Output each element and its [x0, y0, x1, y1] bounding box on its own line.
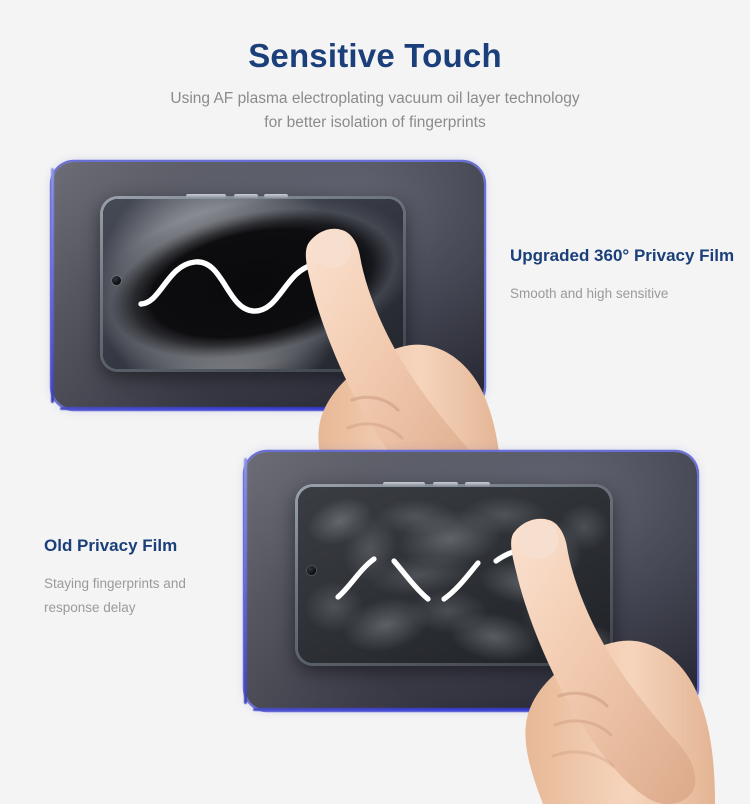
camera-punch-hole-icon — [307, 566, 316, 575]
caption-body-old: Staying fingerprints and response delay — [44, 556, 244, 620]
page-subtitle-line-1: Using AF plasma electroplating vacuum oi… — [0, 87, 750, 111]
promo-banner: Sensitive Touch Using AF plasma electrop… — [0, 0, 750, 750]
side-button-icon — [186, 194, 226, 198]
hand-pointing-finger — [495, 504, 735, 804]
caption-body-upgraded: Smooth and high sensitive — [510, 266, 746, 306]
caption-body-line-1: Staying fingerprints and — [44, 572, 244, 596]
upgraded-film-panel — [52, 162, 484, 409]
side-button-icon — [234, 194, 258, 198]
caption-title-upgraded: Upgraded 360° Privacy Film — [510, 246, 746, 266]
camera-punch-hole-icon — [112, 276, 121, 285]
upgraded-film-caption: Upgraded 360° Privacy Film Smooth and hi… — [510, 246, 746, 306]
side-button-icon — [433, 482, 458, 486]
old-film-panel — [245, 452, 697, 710]
page-title: Sensitive Touch — [0, 0, 750, 72]
page-subtitle-line-2: for better isolation of fingerprints — [0, 111, 750, 135]
side-button-icon — [383, 482, 425, 486]
caption-body-line-1: Smooth and high sensitive — [510, 282, 746, 306]
caption-title-old: Old Privacy Film — [44, 536, 244, 556]
header: Sensitive Touch Using AF plasma electrop… — [0, 0, 750, 135]
old-film-caption: Old Privacy Film Staying fingerprints an… — [44, 536, 244, 620]
side-button-icon — [465, 482, 490, 486]
caption-body-line-2: response delay — [44, 596, 244, 620]
page-subtitle: Using AF plasma electroplating vacuum oi… — [0, 72, 750, 135]
side-button-icon — [264, 194, 288, 198]
